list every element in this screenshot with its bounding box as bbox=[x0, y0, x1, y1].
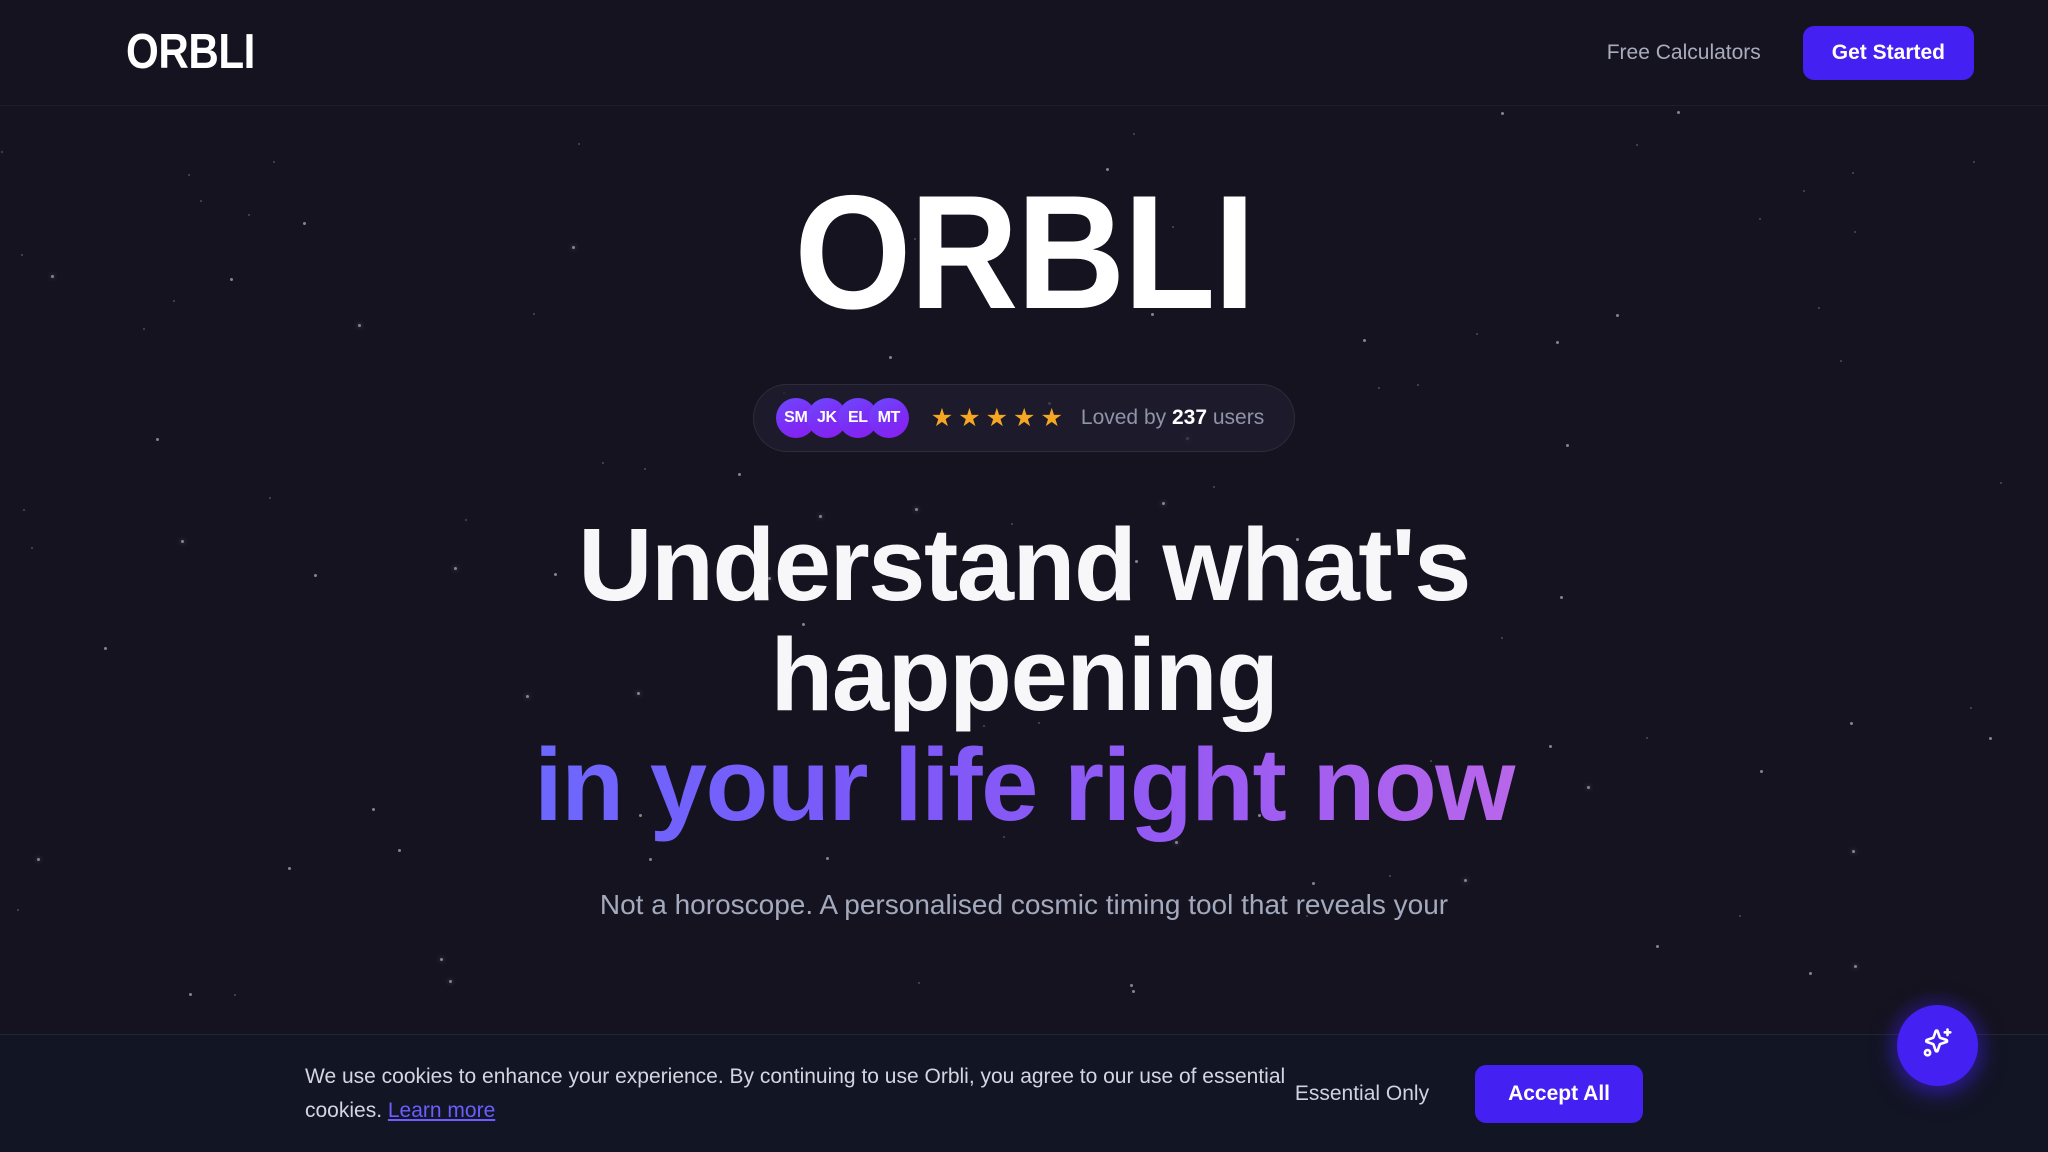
star-rating: ★ ★ ★ ★ ★ bbox=[931, 406, 1063, 431]
get-started-button[interactable]: Get Started bbox=[1803, 26, 1974, 80]
hero-section: ORBLI SM JK EL MT ★ ★ ★ ★ ★ Loved by 237… bbox=[0, 106, 2048, 1152]
loved-by-label: Loved by 237 users bbox=[1081, 406, 1264, 430]
star-icon: ★ bbox=[931, 406, 953, 431]
page-root: ORBLI Free Calculators Get Started ORBLI… bbox=[0, 0, 2048, 1152]
page-title: Understand what's happeningin your life … bbox=[454, 510, 1594, 849]
loved-prefix: Loved by bbox=[1081, 406, 1172, 429]
brand-logo[interactable]: ORBLI bbox=[126, 28, 255, 77]
learn-more-link[interactable]: Learn more bbox=[388, 1099, 495, 1122]
header-nav: Free Calculators Get Started bbox=[1607, 26, 1974, 80]
nav-link-free-calculators[interactable]: Free Calculators bbox=[1607, 41, 1761, 65]
sparkles-icon bbox=[1916, 1024, 1958, 1066]
social-proof-badge: SM JK EL MT ★ ★ ★ ★ ★ Loved by 237 users bbox=[753, 384, 1295, 452]
headline-accent-line: in your life right now bbox=[454, 730, 1594, 848]
star-icon: ★ bbox=[1013, 406, 1035, 431]
star-icon: ★ bbox=[1040, 406, 1062, 431]
essential-only-button[interactable]: Essential Only bbox=[1295, 1082, 1429, 1106]
hero-subheading: Not a horoscope. A personalised cosmic t… bbox=[600, 883, 1448, 928]
star-icon: ★ bbox=[958, 406, 980, 431]
loved-suffix: users bbox=[1207, 406, 1264, 429]
ai-assistant-button[interactable] bbox=[1897, 1005, 1978, 1086]
user-count: 237 bbox=[1172, 406, 1207, 429]
cookie-consent-banner: We use cookies to enhance your experienc… bbox=[0, 1034, 2048, 1152]
floating-action-wrapper bbox=[1882, 990, 1992, 1100]
hero-wordmark: ORBLI bbox=[794, 178, 1253, 327]
cookie-message: We use cookies to enhance your experienc… bbox=[305, 1060, 1295, 1127]
site-header: ORBLI Free Calculators Get Started bbox=[0, 0, 2048, 106]
accept-all-button[interactable]: Accept All bbox=[1475, 1065, 1643, 1123]
star-icon: ★ bbox=[986, 406, 1008, 431]
cookie-actions: Essential Only Accept All bbox=[1295, 1065, 1643, 1123]
avatar: MT bbox=[869, 398, 909, 438]
avatar-group: SM JK EL MT bbox=[776, 398, 900, 438]
headline-line-2: happening bbox=[770, 617, 1277, 732]
headline-line-1: Understand what's bbox=[578, 507, 1470, 622]
